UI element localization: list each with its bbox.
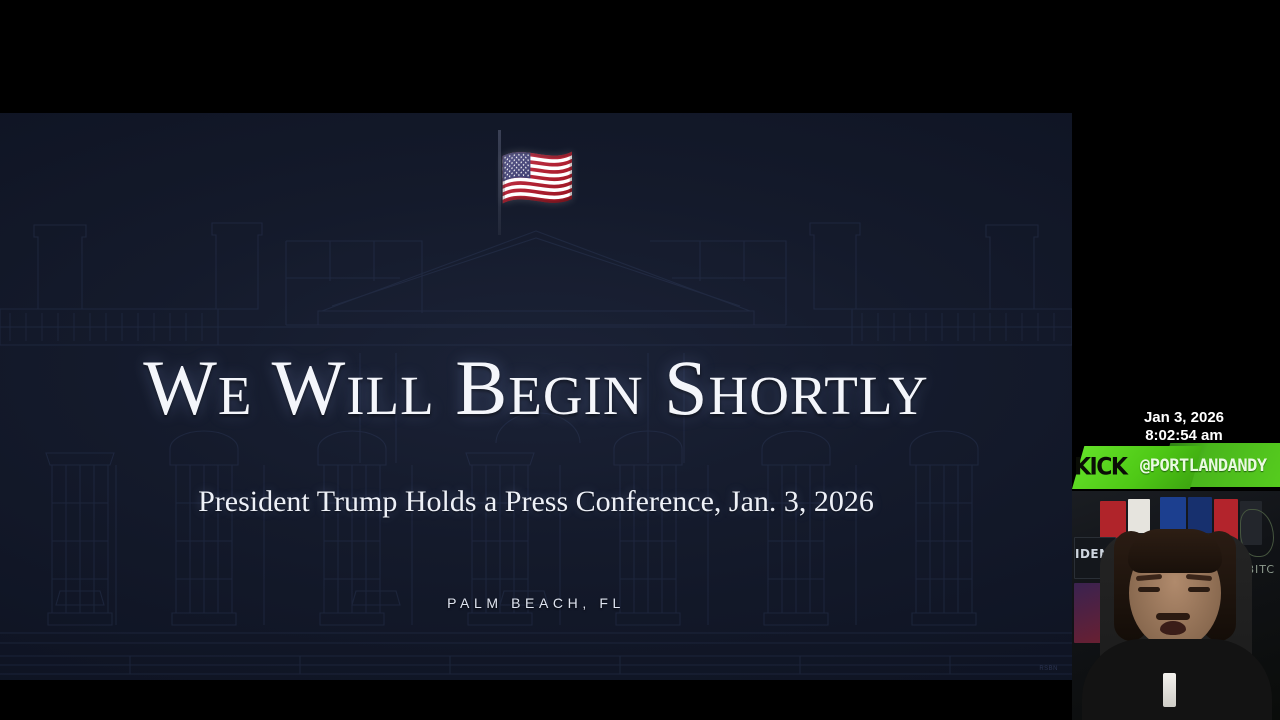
stream-screenshot: 🇺🇸 We Will Begin Shortly President Trump… — [0, 0, 1280, 720]
webcam-microphone — [1163, 673, 1176, 707]
webcam-eye-left — [1138, 587, 1160, 592]
kick-logo-icon[interactable]: KICK — [1074, 454, 1142, 482]
slide-location: PALM BEACH, FL — [0, 596, 1072, 610]
flag-assembly: 🇺🇸 — [476, 130, 596, 235]
kick-handle-label[interactable]: @PORTLANDANDY — [1140, 456, 1267, 476]
broadcaster-watermark: RSBN — [1039, 666, 1058, 672]
us-flag-icon: 🇺🇸 — [500, 148, 575, 208]
kick-banner[interactable]: KICK @PORTLANDANDY — [1072, 443, 1280, 491]
streamer-webcam[interactable]: IDEN BITC — [1072, 491, 1280, 720]
clock-overlay: Jan 3, 2026 8:02:54 am — [1144, 409, 1224, 445]
slide-title: We Will Begin Shortly — [0, 349, 1072, 427]
clock-date: Jan 3, 2026 — [1144, 409, 1224, 427]
webcam-eye-right — [1188, 587, 1210, 592]
webcam-torso — [1082, 639, 1272, 720]
webcam-hair-top — [1128, 529, 1222, 573]
slide-subtitle: President Trump Holds a Press Conference… — [0, 487, 1072, 517]
webcam-mouth — [1160, 621, 1186, 635]
webcam-moustache — [1156, 613, 1190, 620]
video-player-content[interactable]: 🇺🇸 We Will Begin Shortly President Trump… — [0, 113, 1072, 680]
